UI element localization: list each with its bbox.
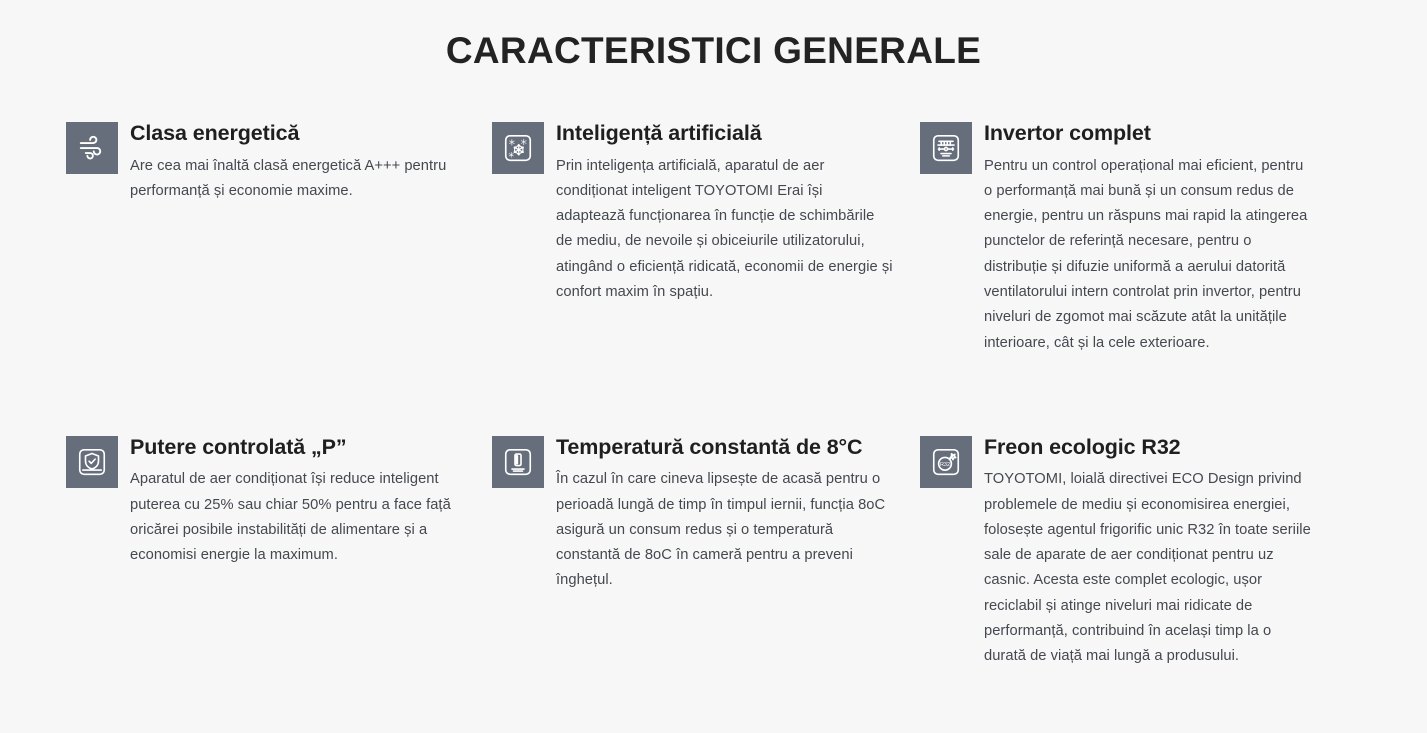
features-grid-row-1: Clasa energetică Are cea mai înaltă clas… bbox=[0, 74, 1427, 356]
feature-card-temperatura-constanta: Temperatură constantă de 8°C În cazul în… bbox=[492, 434, 920, 670]
feature-card-body: Invertor complet Pentru un control opera… bbox=[984, 120, 1314, 356]
feature-title: Invertor complet bbox=[984, 121, 1314, 146]
feature-title: Temperatură constantă de 8°C bbox=[556, 435, 894, 460]
feature-card-putere-controlata: Putere controlată „P” Aparatul de aer co… bbox=[66, 434, 492, 670]
feature-title: Freon ecologic R32 bbox=[984, 435, 1314, 460]
inverter-unit-icon bbox=[920, 122, 972, 174]
feature-text: În cazul în care cineva lipsește de acas… bbox=[556, 467, 894, 593]
feature-card-body: Clasa energetică Are cea mai înaltă clas… bbox=[130, 120, 466, 204]
feature-text: Aparatul de aer condiționat își reduce i… bbox=[130, 467, 466, 568]
wind-icon bbox=[66, 122, 118, 174]
feature-text: Pentru un control operațional mai eficie… bbox=[984, 154, 1314, 356]
thermometer-display-icon bbox=[492, 436, 544, 488]
feature-card-body: Putere controlată „P” Aparatul de aer co… bbox=[130, 434, 466, 568]
feature-text: Are cea mai înaltă clasă energetică A+++… bbox=[130, 154, 466, 205]
svg-text:R32: R32 bbox=[940, 462, 950, 468]
row-spacer bbox=[0, 356, 1427, 388]
feature-title: Inteligență artificială bbox=[556, 121, 894, 146]
feature-card-body: Freon ecologic R32 TOYOTOMI, loială dire… bbox=[984, 434, 1314, 670]
feature-text: TOYOTOMI, loială directivei ECO Design p… bbox=[984, 467, 1314, 669]
feature-card-body: Temperatură constantă de 8°C În cazul în… bbox=[556, 434, 894, 594]
feature-card-inteligenta-artificiala: Inteligență artificială Prin inteligența… bbox=[492, 120, 920, 356]
feature-card-freon-r32: R32 Freon ecologic R32 TOYOTOMI, loială … bbox=[920, 434, 1340, 670]
r32-refrigerant-icon: R32 bbox=[920, 436, 972, 488]
feature-text: Prin inteligența artificială, aparatul d… bbox=[556, 154, 894, 306]
features-grid-row-2: Putere controlată „P” Aparatul de aer co… bbox=[0, 388, 1427, 670]
feature-card-body: Inteligență artificială Prin inteligența… bbox=[556, 120, 894, 305]
features-page: CARACTERISTICI GENERALE Clasa energetică… bbox=[0, 0, 1427, 733]
snowflake-icon bbox=[492, 122, 544, 174]
feature-title: Clasa energetică bbox=[130, 121, 466, 146]
feature-card-clasa-energetica: Clasa energetică Are cea mai înaltă clas… bbox=[66, 120, 492, 356]
feature-title: Putere controlată „P” bbox=[130, 435, 466, 460]
page-title: CARACTERISTICI GENERALE bbox=[0, 0, 1427, 74]
shield-check-icon bbox=[66, 436, 118, 488]
feature-card-invertor-complet: Invertor complet Pentru un control opera… bbox=[920, 120, 1340, 356]
